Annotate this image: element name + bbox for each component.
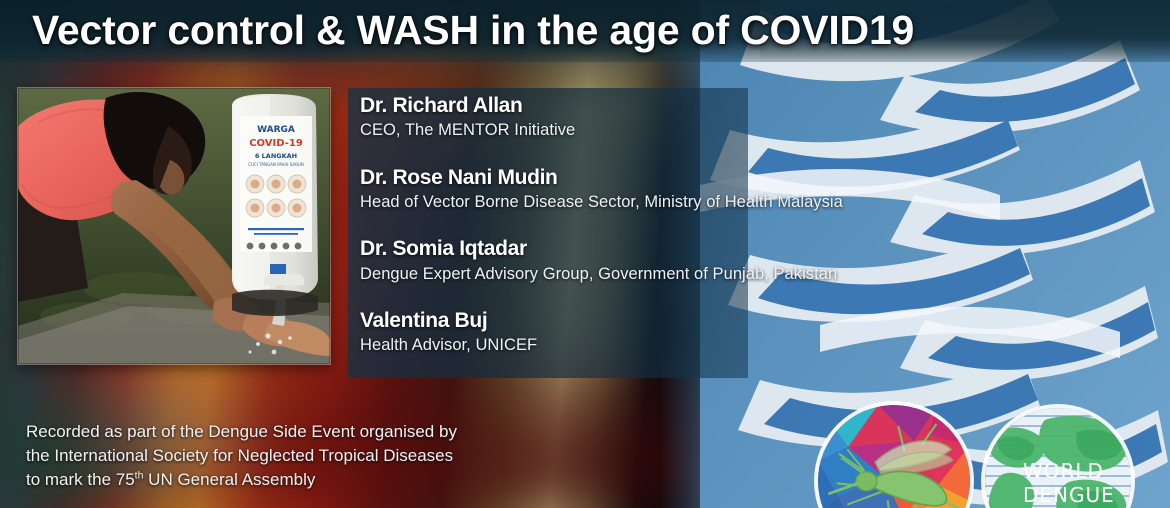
speaker-name: Valentina Buj bbox=[360, 307, 960, 334]
svg-text:6 LANGKAH: 6 LANGKAH bbox=[255, 152, 297, 160]
svg-text:COVID-19: COVID-19 bbox=[249, 138, 303, 149]
footer-credit: Recorded as part of the Dengue Side Even… bbox=[26, 420, 666, 492]
footer-line-3-a: to mark the 75 bbox=[26, 470, 135, 489]
speaker-role: Health Advisor, UNICEF bbox=[360, 334, 960, 357]
wdd-line-1: WORLD bbox=[1023, 459, 1104, 483]
footer-line-2: the International Society for Neglected … bbox=[26, 444, 666, 468]
speaker-role: Head of Vector Borne Disease Sector, Min… bbox=[360, 191, 960, 214]
slide-title: Vector control & WASH in the age of COVI… bbox=[0, 2, 1160, 58]
speaker-item: Dr. Somia Iqtadar Dengue Expert Advisory… bbox=[360, 235, 960, 286]
footer-line-1: Recorded as part of the Dengue Side Even… bbox=[26, 420, 666, 444]
speaker-item: Dr. Richard Allan CEO, The MENTOR Initia… bbox=[360, 92, 960, 143]
footer-line-3: to mark the 75th UN General Assembly bbox=[26, 468, 666, 492]
speaker-name: Dr. Richard Allan bbox=[360, 92, 960, 119]
speaker-role: Dengue Expert Advisory Group, Government… bbox=[360, 263, 960, 286]
speaker-role: CEO, The MENTOR Initiative bbox=[360, 119, 960, 142]
speaker-name: Dr. Rose Nani Mudin bbox=[360, 164, 960, 191]
wdd-line-2: DENGUE bbox=[1023, 483, 1115, 507]
speaker-name: Dr. Somia Iqtadar bbox=[360, 235, 960, 262]
presentation-slide: Vector control & WASH in the age of COVI… bbox=[0, 0, 1170, 508]
speaker-item: Valentina Buj Health Advisor, UNICEF bbox=[360, 307, 960, 358]
svg-text:CUCI TANGAN PAKAI SABUN: CUCI TANGAN PAKAI SABUN bbox=[248, 162, 304, 167]
handwashing-photo: WARGA COVID-19 6 LANGKAH CUCI TANGAN PAK… bbox=[18, 88, 330, 364]
speaker-item: Dr. Rose Nani Mudin Head of Vector Borne… bbox=[360, 164, 960, 215]
speaker-list: Dr. Richard Allan CEO, The MENTOR Initia… bbox=[360, 92, 960, 358]
svg-text:WARGA: WARGA bbox=[257, 125, 295, 135]
footer-line-3-b: UN General Assembly bbox=[143, 470, 315, 489]
